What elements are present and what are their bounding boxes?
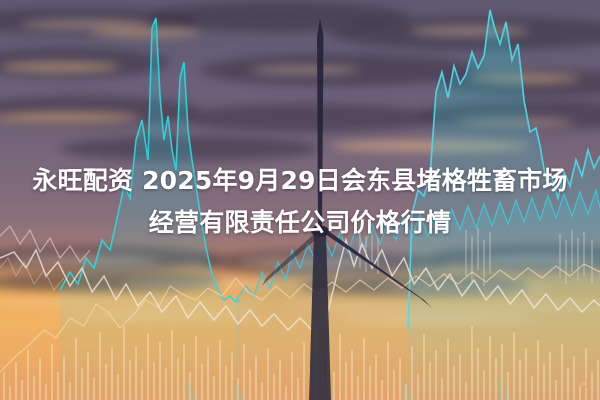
corner-watermark-dot xyxy=(579,379,588,388)
page-title: 永旺配资 2025年9月29日会东县堵格牲畜市场 经营有限责任公司价格行情 xyxy=(0,160,600,244)
turbine-tower xyxy=(309,232,331,400)
image-canvas: 永旺配资 2025年9月29日会东县堵格牲畜市场 经营有限责任公司价格行情 xyxy=(0,0,600,400)
title-line-1: 永旺配资 2025年9月29日会东县堵格牲畜市场 xyxy=(0,160,600,202)
title-line-2: 经营有限责任公司价格行情 xyxy=(0,202,600,244)
